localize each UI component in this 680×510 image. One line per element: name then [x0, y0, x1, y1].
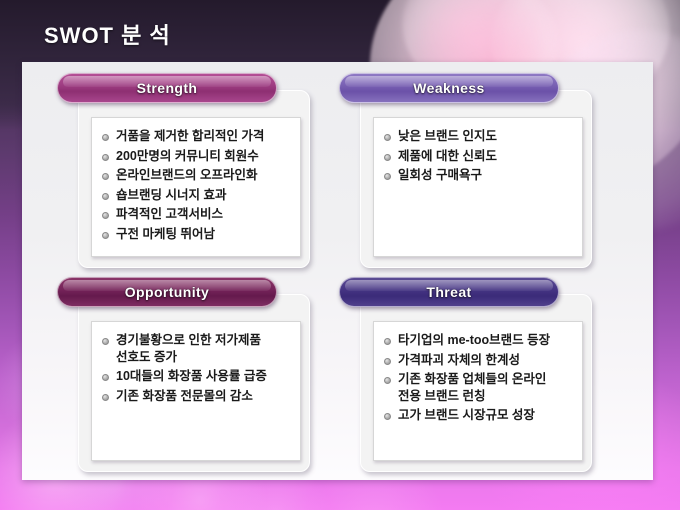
list-item: 기존 화장품 전문몰의 감소 — [102, 388, 294, 405]
bullet-list-weakness: 낮은 브랜드 인지도 제품에 대한 신뢰도 일회성 구매욕구 — [374, 118, 582, 184]
card-header-label: Weakness — [413, 80, 484, 96]
card-header-strength: Strength — [57, 73, 277, 103]
card-body-opportunity: 경기불황으로 인한 저가제품 선호도 증가 10대들의 화장품 사용률 급증 기… — [91, 321, 301, 461]
list-item: 경기불황으로 인한 저가제품 선호도 증가 — [102, 332, 294, 365]
swot-card-opportunity: Opportunity 경기불황으로 인한 저가제품 선호도 증가 10대들의 … — [78, 294, 310, 472]
list-item: 고가 브랜드 시장규모 성장 — [384, 407, 576, 424]
card-header-label: Opportunity — [125, 284, 210, 300]
list-item: 낮은 브랜드 인지도 — [384, 128, 576, 145]
card-body-strength: 거품을 제거한 합리적인 가격 200만명의 커뮤니티 회원수 온라인브랜드의 … — [91, 117, 301, 257]
list-item: 숍브랜딩 시너지 효과 — [102, 187, 294, 204]
swot-card-weakness: Weakness 낮은 브랜드 인지도 제품에 대한 신뢰도 일회성 구매욕구 — [360, 90, 592, 268]
content-panel: Strength 거품을 제거한 합리적인 가격 200만명의 커뮤니티 회원수… — [22, 62, 653, 480]
swot-card-strength: Strength 거품을 제거한 합리적인 가격 200만명의 커뮤니티 회원수… — [78, 90, 310, 268]
slide-canvas: SWOT 분 석 Strength 거품을 제거한 합리적인 가격 200만명의… — [0, 0, 680, 510]
list-item: 파격적인 고객서비스 — [102, 206, 294, 223]
list-item: 일회성 구매욕구 — [384, 167, 576, 184]
card-body-weakness: 낮은 브랜드 인지도 제품에 대한 신뢰도 일회성 구매욕구 — [373, 117, 583, 257]
card-header-label: Strength — [137, 80, 198, 96]
list-item: 제품에 대한 신뢰도 — [384, 148, 576, 165]
bullet-list-threat: 타기업의 me-too브랜드 등장 가격파괴 자체의 한계성 기존 화장품 업체… — [374, 322, 582, 424]
list-item: 온라인브랜드의 오프라인화 — [102, 167, 294, 184]
list-item: 거품을 제거한 합리적인 가격 — [102, 128, 294, 145]
list-item: 200만명의 커뮤니티 회원수 — [102, 148, 294, 165]
swot-card-threat: Threat 타기업의 me-too브랜드 등장 가격파괴 자체의 한계성 기존… — [360, 294, 592, 472]
bullet-list-strength: 거품을 제거한 합리적인 가격 200만명의 커뮤니티 회원수 온라인브랜드의 … — [92, 118, 300, 242]
card-header-label: Threat — [426, 284, 471, 300]
bullet-list-opportunity: 경기불황으로 인한 저가제품 선호도 증가 10대들의 화장품 사용률 급증 기… — [92, 322, 300, 404]
card-header-threat: Threat — [339, 277, 559, 307]
card-header-weakness: Weakness — [339, 73, 559, 103]
card-header-opportunity: Opportunity — [57, 277, 277, 307]
card-body-threat: 타기업의 me-too브랜드 등장 가격파괴 자체의 한계성 기존 화장품 업체… — [373, 321, 583, 461]
list-item: 10대들의 화장품 사용률 급증 — [102, 368, 294, 385]
list-item: 기존 화장품 업체들의 온라인 전용 브랜드 런칭 — [384, 371, 576, 404]
list-item: 가격파괴 자체의 한계성 — [384, 352, 576, 369]
page-title: SWOT 분 석 — [44, 18, 171, 50]
list-item: 구전 마케팅 뛰어남 — [102, 226, 294, 243]
list-item: 타기업의 me-too브랜드 등장 — [384, 332, 576, 349]
